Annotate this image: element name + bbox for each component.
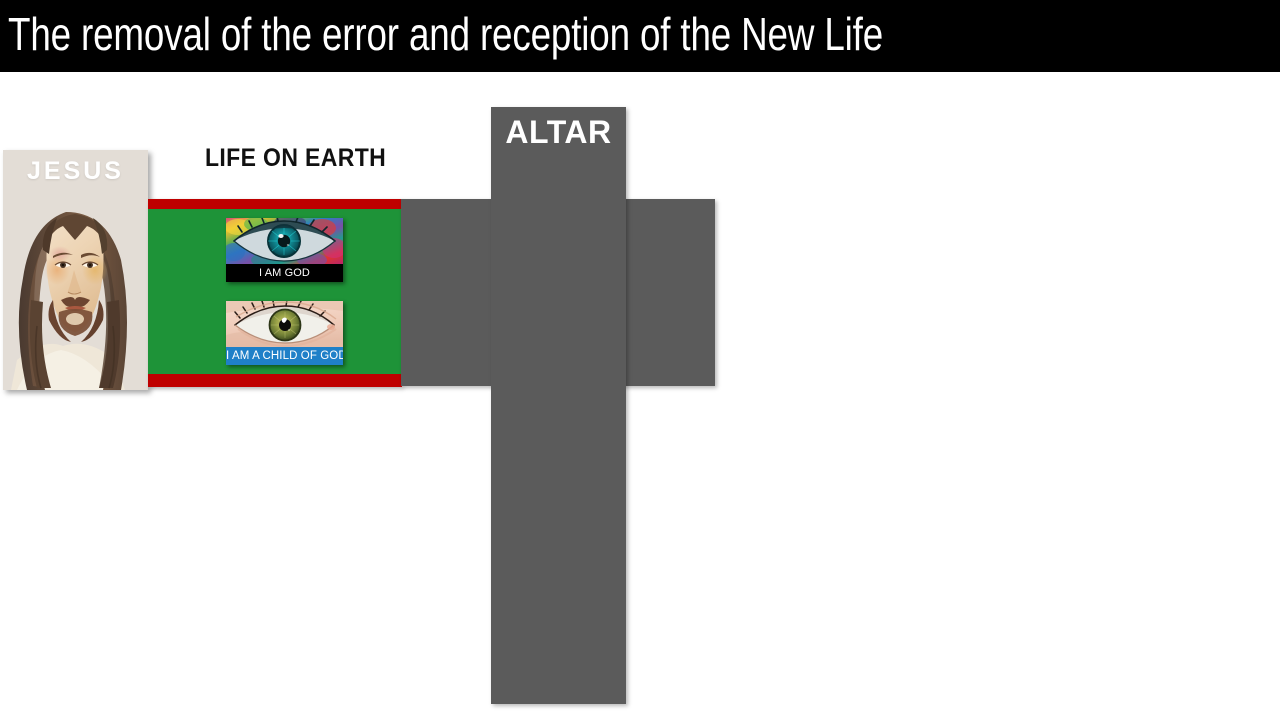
- slide-title-bar: The removal of the error and reception o…: [0, 0, 1280, 72]
- eye-card-caption: I AM A CHILD OF GOD: [226, 347, 343, 365]
- eye-card-i-am-a-child-of-god[interactable]: I AM A CHILD OF GOD: [226, 301, 343, 365]
- jesus-image-label: JESUS: [3, 157, 148, 186]
- jesus-image-card[interactable]: JESUS: [3, 150, 148, 390]
- life-on-earth-heading: LIFE ON EARTH: [205, 144, 386, 173]
- panel-top-red-band: [148, 199, 402, 209]
- altar-label: ALTAR: [491, 114, 626, 151]
- altar-cross-vertical-beam: [491, 107, 626, 704]
- panel-bottom-red-band: [148, 374, 402, 387]
- eye-card-caption: I AM GOD: [226, 264, 343, 282]
- page-title: The removal of the error and reception o…: [8, 6, 883, 62]
- jesus-portrait-icon: [3, 150, 148, 390]
- life-on-earth-panel: I AM GOD: [148, 199, 402, 387]
- human-green-eye-icon: [226, 301, 343, 347]
- eye-card-i-am-god[interactable]: I AM GOD: [226, 218, 343, 282]
- colorful-painted-eye-icon: [226, 218, 343, 264]
